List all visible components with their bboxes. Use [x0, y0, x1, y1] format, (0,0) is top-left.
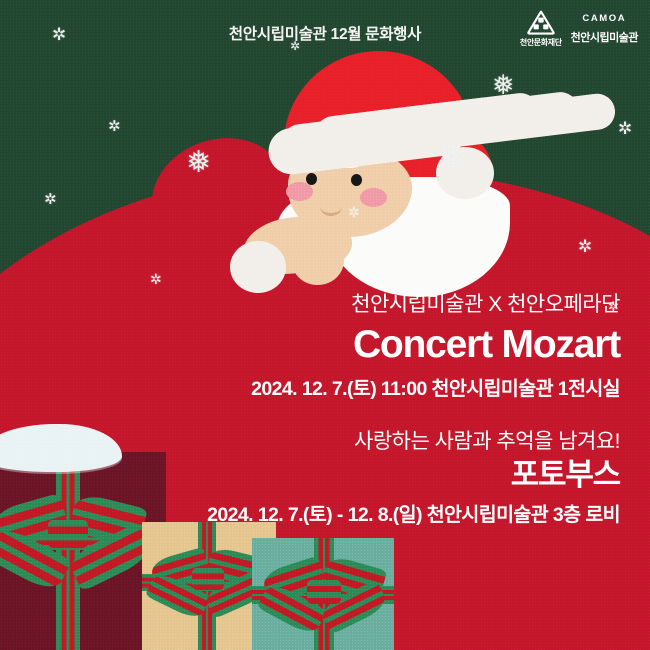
- gift-maroon-ribbon-vertical: [56, 452, 80, 650]
- gift-box-teal: [252, 538, 394, 650]
- santa-nose-icon: [320, 197, 342, 216]
- museum-logo-korean: 천안시립미술관: [571, 29, 638, 45]
- foundation-logo: 천안문화재단: [520, 10, 562, 48]
- snowflake-star-3-icon: ✲: [44, 192, 57, 207]
- santa-cuff-icon: [230, 241, 286, 293]
- foundation-logo-caption: 천안문화재단: [520, 37, 562, 48]
- photobooth-detail: 2024. 12. 7.(토) - 12. 8.(일) 천안시립미술관 3층 로…: [207, 498, 620, 527]
- snowflake-star-5-icon: ✲: [618, 120, 632, 137]
- santa-figure: [232, 55, 472, 275]
- poster-canvas: ✲✲✲✲❅✲❅✲❅✲✲✲ 천안시립미술관 12월 문화행사: [0, 0, 650, 650]
- concert-kicker: 천안시립미술관 X 천안오페라단: [251, 288, 620, 318]
- snowflake-crystal-3-icon: ❅: [186, 148, 211, 178]
- snowflake-crystal-2-icon: ❅: [438, 140, 465, 172]
- photobooth-info-block: 사랑하는 사람과 추억을 남겨요! 포토부스 2024. 12. 7.(토) -…: [207, 425, 620, 527]
- concert-title: Concert Mozart: [251, 325, 620, 366]
- gift-teal-bow-knot: [307, 580, 341, 604]
- santa-hand-icon: [292, 237, 344, 285]
- snowflake-star-6-icon: ✲: [578, 238, 592, 255]
- logo-group: 천안문화재단 CAMOA 천안시립미술관: [520, 10, 638, 48]
- concert-detail: 2024. 12. 7.(토) 11:00 천안시립미술관 1전시실: [251, 372, 620, 401]
- snowflake-star-8-icon: ✲: [150, 272, 162, 286]
- santa-cheek-left-icon: [286, 182, 313, 201]
- santa-eye-right-icon: [351, 174, 362, 186]
- santa-cheek-right-icon: [360, 188, 387, 207]
- museum-logo: CAMOA 천안시립미술관: [571, 13, 638, 45]
- triangle-logo-icon: [527, 10, 555, 35]
- snowflake-star-2-icon: ✲: [108, 119, 121, 134]
- concert-info-block: 천안시립미술관 X 천안오페라단 Concert Mozart 2024. 12…: [251, 288, 620, 401]
- gift-tan-bow-knot: [192, 568, 224, 590]
- gift-maroon-bow-knot: [48, 520, 88, 548]
- snowflake-star-7-icon: ✲: [348, 205, 360, 219]
- santa-eye-left-icon: [306, 173, 317, 185]
- snowflake-crystal-1-icon: ❅: [492, 72, 515, 99]
- photobooth-kicker: 사랑하는 사람과 추억을 남겨요!: [207, 425, 620, 455]
- photobooth-title: 포토부스: [207, 459, 620, 492]
- museum-logo-english: CAMOA: [582, 13, 626, 24]
